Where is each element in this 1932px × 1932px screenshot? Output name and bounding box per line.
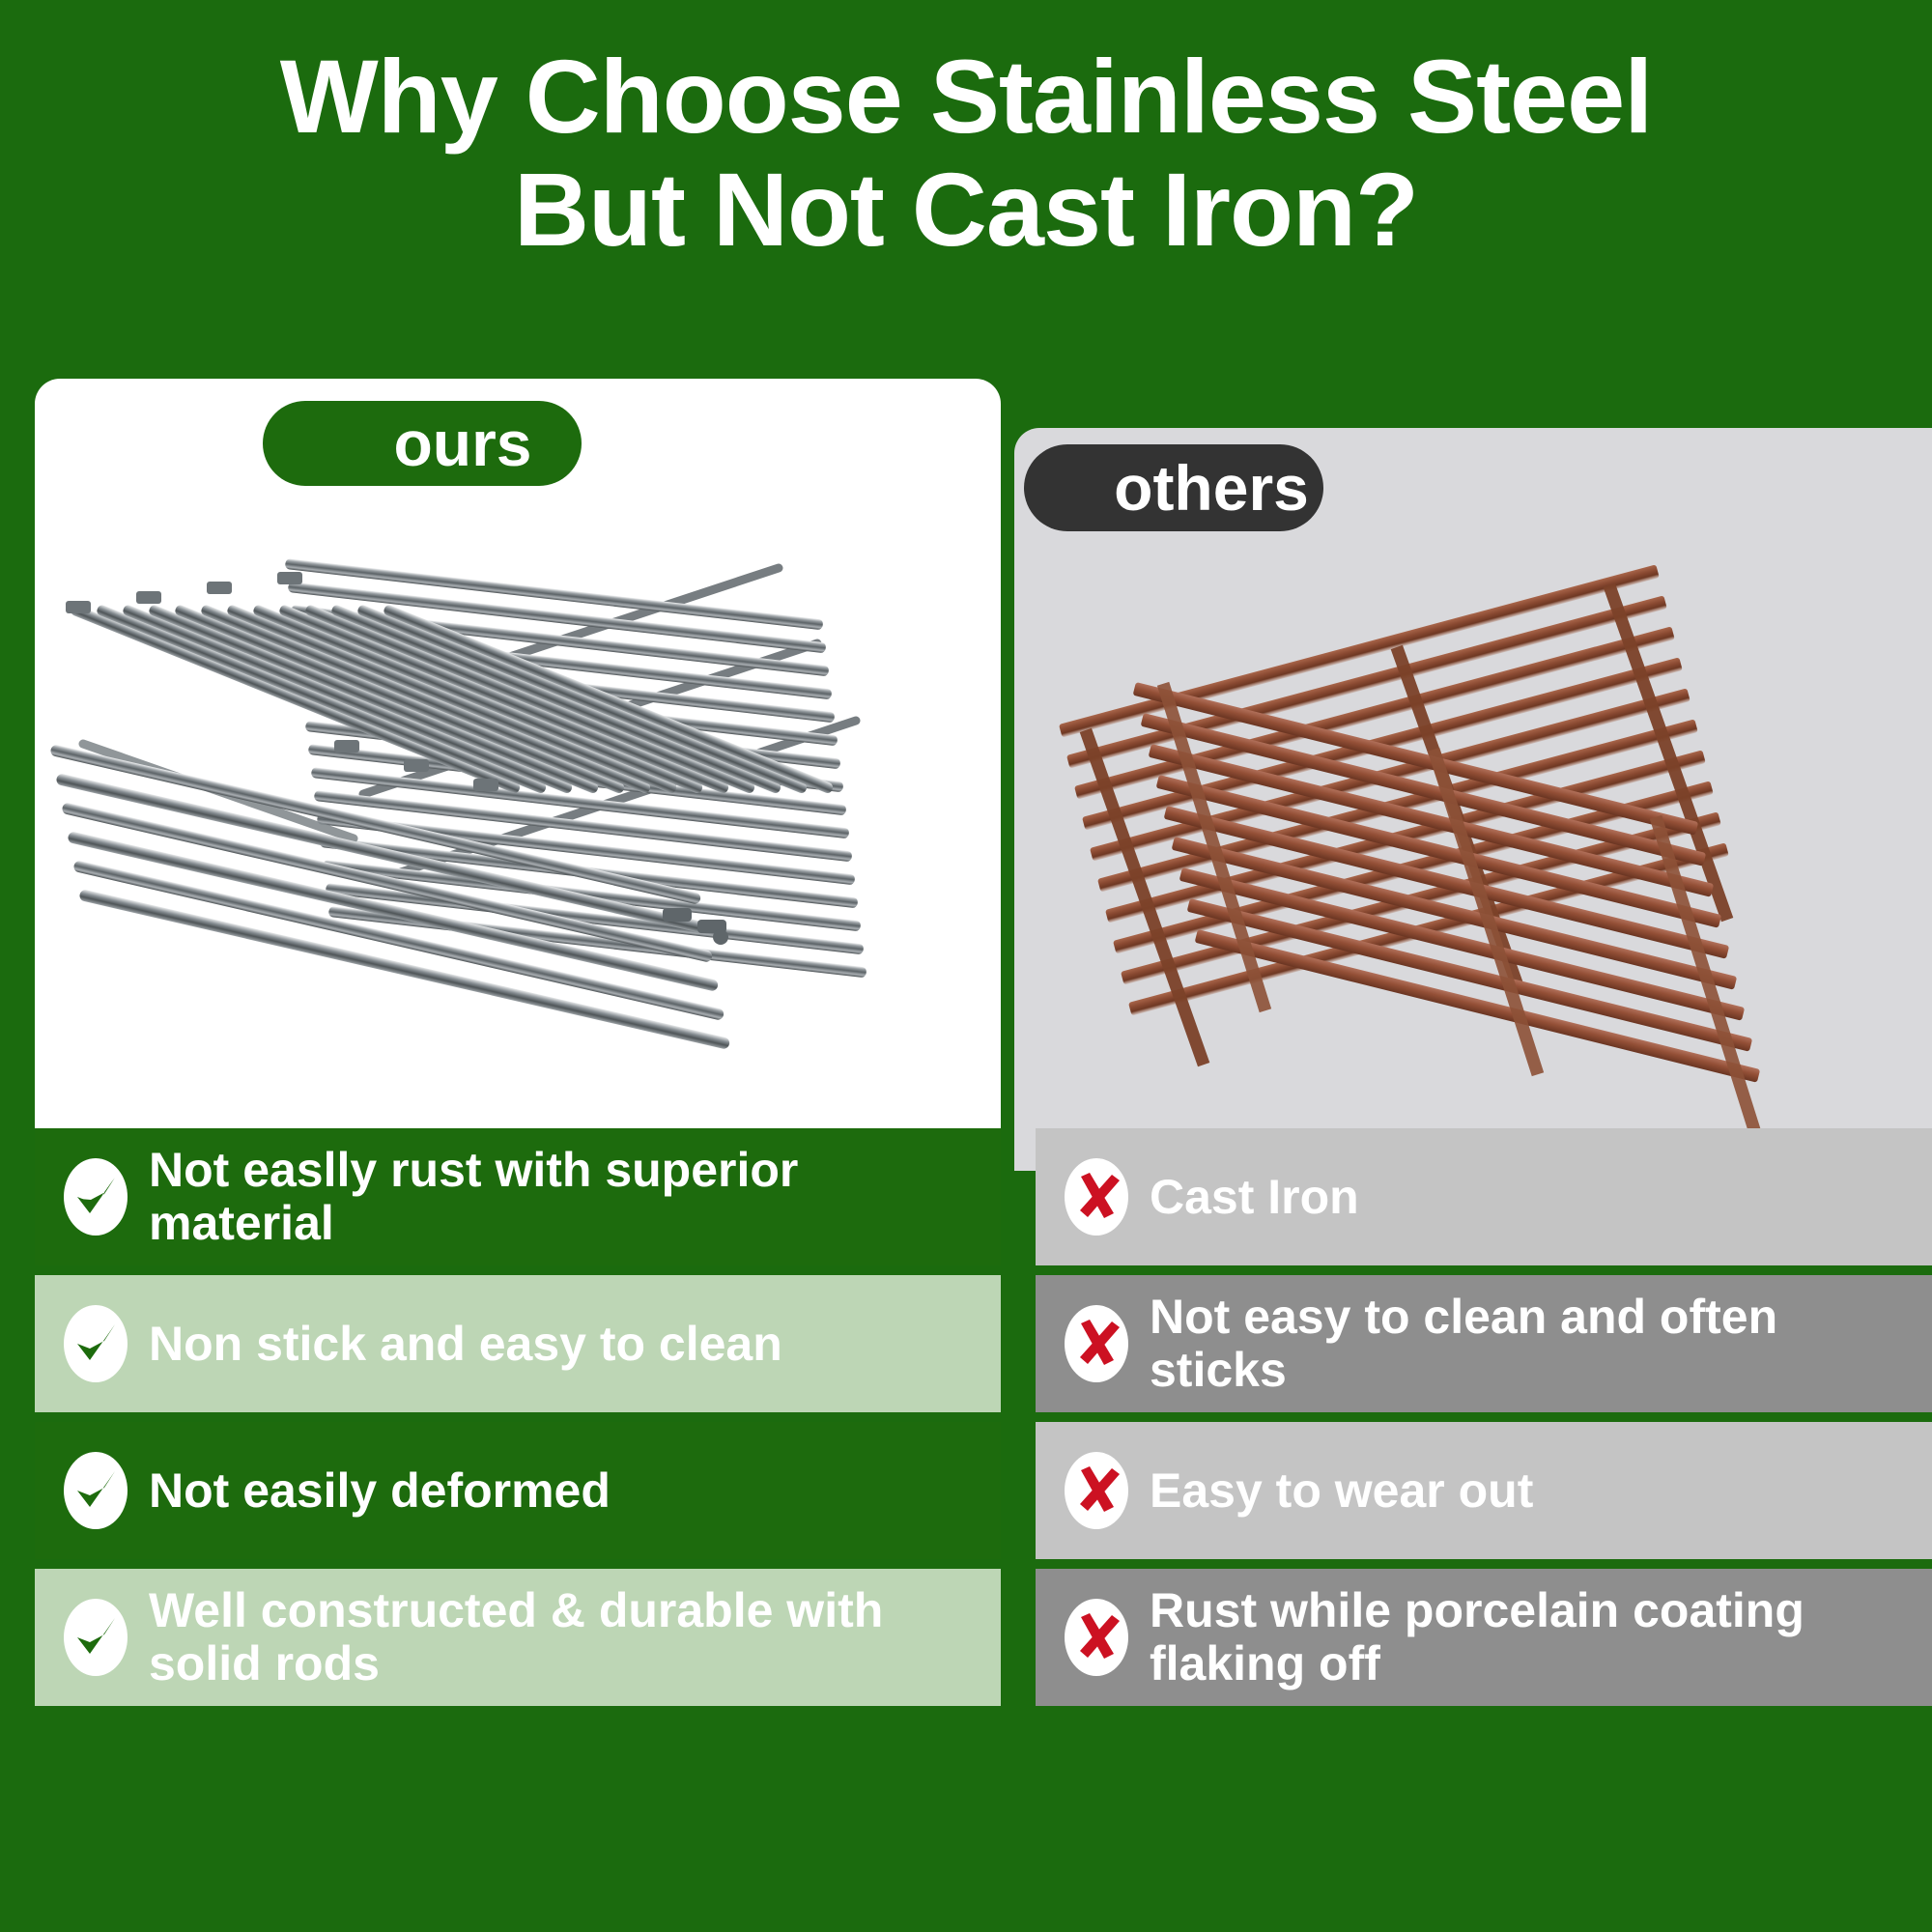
badge-ours: ours	[263, 401, 582, 486]
ours-feature-row-3: Not easily deformed	[35, 1422, 1001, 1559]
check-icon	[60, 1153, 131, 1240]
ours-feature-label-4: Well constructed & durable with solid ro…	[149, 1584, 987, 1690]
others-feature-label-2: Not easy to clean and often sticks	[1150, 1291, 1918, 1397]
cross-icon	[1061, 1300, 1132, 1387]
cross-icon	[1061, 1594, 1132, 1681]
others-feature-row-2: Not easy to clean and often sticks	[1036, 1275, 1932, 1412]
check-icon	[60, 1300, 131, 1387]
check-icon	[60, 1447, 131, 1534]
others-feature-row-1: Cast Iron	[1036, 1128, 1932, 1265]
stainless-steel-grill-grate-image	[44, 454, 991, 1159]
ours-feature-row-2: Non stick and easy to clean	[35, 1275, 1001, 1412]
ours-feature-row-4: Well constructed & durable with solid ro…	[35, 1569, 1001, 1706]
others-feature-label-1: Cast Iron	[1150, 1171, 1359, 1224]
check-icon	[60, 1594, 131, 1681]
ours-feature-label-2: Non stick and easy to clean	[149, 1318, 782, 1371]
cross-icon	[1061, 1153, 1132, 1240]
others-feature-row-4: Rust while porcelain coating flaking off	[1036, 1569, 1932, 1706]
others-feature-row-3: Easy to wear out	[1036, 1422, 1932, 1559]
badge-others: others	[1024, 444, 1323, 531]
ours-feature-list: Not easlly rust with superior material N…	[35, 1128, 1001, 1716]
others-feature-label-4: Rust while porcelain coating flaking off	[1150, 1584, 1918, 1690]
ours-feature-label-1: Not easlly rust with superior material	[149, 1144, 987, 1250]
rusty-cast-iron-grill-grate-image	[1020, 483, 1926, 1159]
others-feature-list: Cast Iron Not easy to clean and often st…	[1036, 1128, 1932, 1716]
others-feature-label-3: Easy to wear out	[1150, 1464, 1533, 1518]
cross-icon	[1061, 1447, 1132, 1534]
ours-feature-row-1: Not easlly rust with superior material	[35, 1128, 1001, 1265]
ours-feature-label-3: Not easily deformed	[149, 1464, 611, 1518]
